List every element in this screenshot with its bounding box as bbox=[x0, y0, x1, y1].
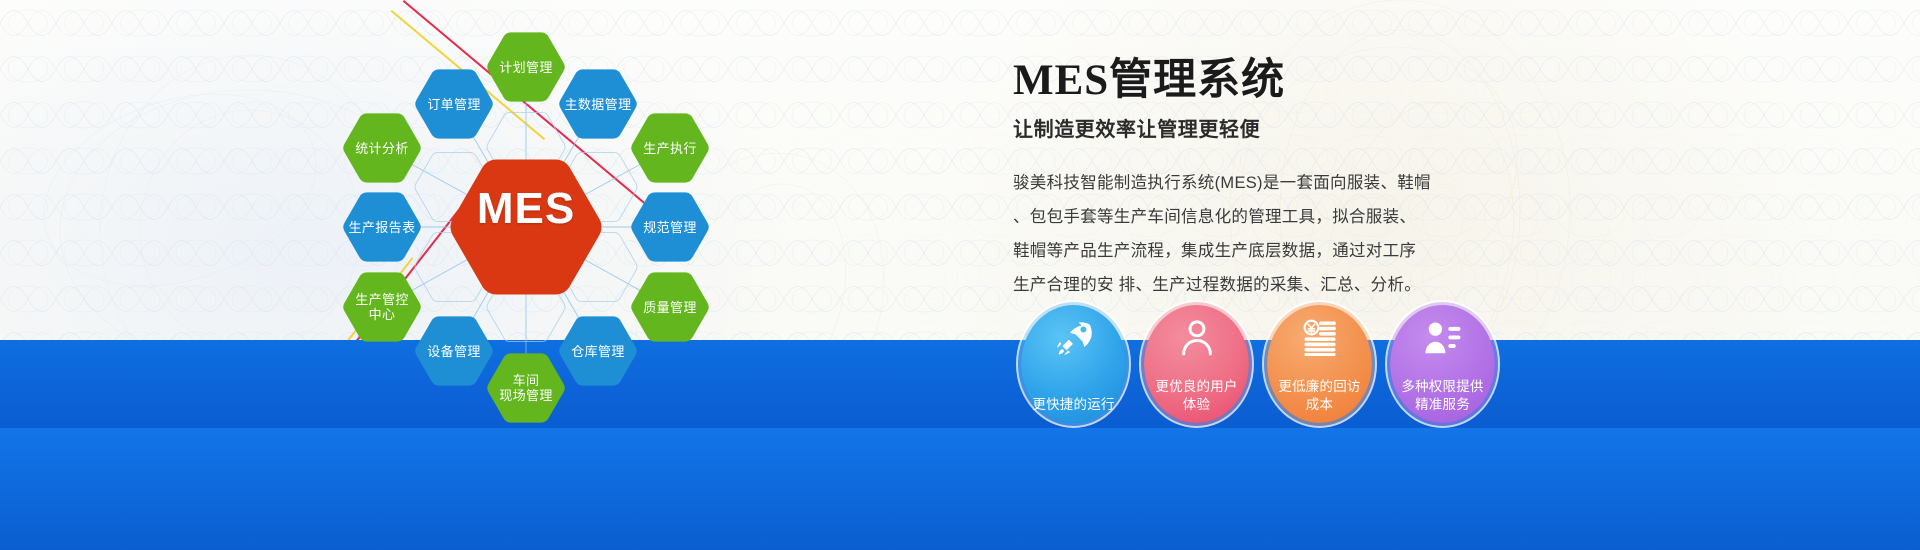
mes-hexagon-diagram: 计划管理订单管理统计分析生产报告表生产管控 中心设备管理车间 现场管理仓库管理质… bbox=[330, 0, 810, 440]
feature-label: 更优良的用户 体验 bbox=[1149, 378, 1245, 414]
description-line: 鞋帽等产品生产流程，集成生产底层数据，通过对工序 bbox=[1013, 234, 1468, 268]
page-subtitle: 让制造更效率让管理更轻便 bbox=[1013, 113, 1573, 142]
feature-circle-list: 更快捷的运行更优良的用户 体验更低廉的回访 成本多种权限提供 精准服务 bbox=[1021, 305, 1495, 423]
feature-label: 更快捷的运行 bbox=[1026, 396, 1122, 414]
hex-node-7[interactable] bbox=[487, 353, 565, 422]
hero-banner: 计划管理订单管理统计分析生产报告表生产管控 中心设备管理车间 现场管理仓库管理质… bbox=[0, 0, 1920, 550]
description-line: 、包包手套等生产车间信息化的管理工具，拟合服装、 bbox=[1013, 200, 1468, 234]
description-line: 骏美科技智能制造执行系统(MES)是一套面向服装、鞋帽 bbox=[1013, 166, 1468, 200]
hero-text-column: MES管理系统 让制造更效率让管理更轻便 骏美科技智能制造执行系统(MES)是一… bbox=[1013, 55, 1573, 302]
page-title: MES管理系统 bbox=[1013, 55, 1573, 107]
feature-circle-2[interactable]: 更优良的用户 体验 bbox=[1144, 305, 1249, 423]
hex-node-12[interactable] bbox=[559, 69, 637, 138]
description-line: 生产合理的安 排、生产过程数据的采集、汇总、分析。 bbox=[1013, 268, 1468, 302]
feature-label: 多种权限提供 精准服务 bbox=[1395, 378, 1491, 414]
hex-node-8[interactable] bbox=[559, 316, 637, 385]
rocket-icon bbox=[1054, 318, 1094, 358]
hex-node-2[interactable] bbox=[415, 69, 493, 138]
hex-node-4[interactable] bbox=[343, 192, 421, 261]
hex-node-5[interactable] bbox=[343, 272, 421, 341]
user-list-icon bbox=[1423, 318, 1463, 358]
hex-node-11[interactable] bbox=[631, 113, 709, 182]
feature-circle-3[interactable]: 更低廉的回访 成本 bbox=[1267, 305, 1372, 423]
feature-circle-1[interactable]: 更快捷的运行 bbox=[1021, 305, 1126, 423]
hex-node-3[interactable] bbox=[343, 113, 421, 182]
user-icon bbox=[1177, 318, 1217, 358]
money-stack-icon bbox=[1300, 318, 1340, 358]
feature-circle-4[interactable]: 多种权限提供 精准服务 bbox=[1390, 305, 1495, 423]
hero-description: 骏美科技智能制造执行系统(MES)是一套面向服装、鞋帽、包包手套等生产车间信息化… bbox=[1013, 166, 1468, 302]
hex-node-6[interactable] bbox=[415, 316, 493, 385]
hex-center-mes[interactable] bbox=[451, 160, 602, 295]
hex-node-10[interactable] bbox=[631, 192, 709, 261]
feature-label: 更低廉的回访 成本 bbox=[1272, 378, 1368, 414]
hex-node-1[interactable] bbox=[487, 32, 565, 101]
bottom-blue-band-inner bbox=[0, 428, 1920, 550]
hex-node-9[interactable] bbox=[631, 272, 709, 341]
